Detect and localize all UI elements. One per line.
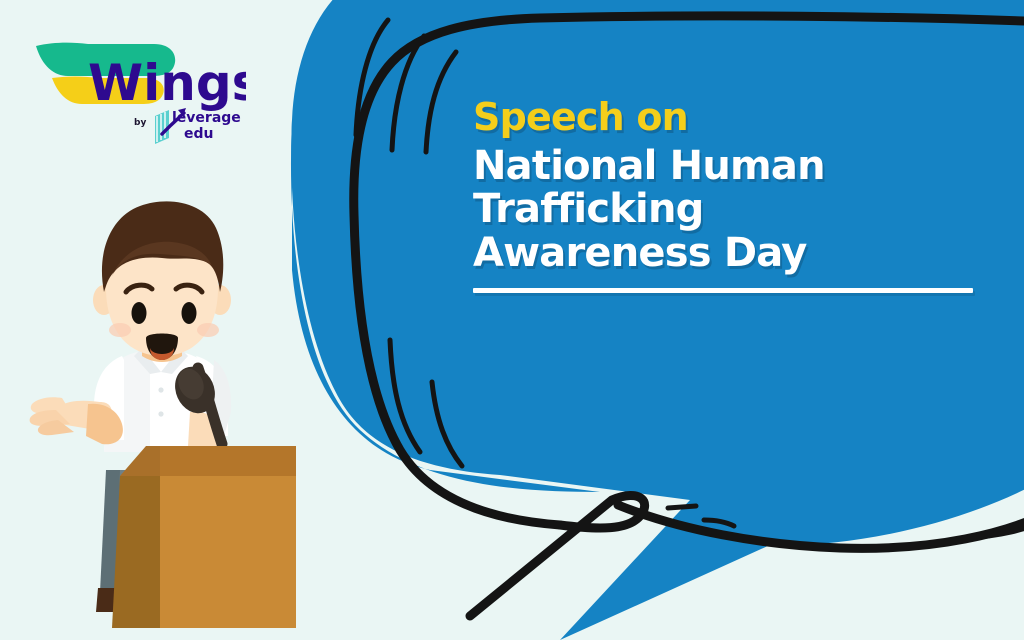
eye-left [132,302,147,324]
cheek-left [109,323,131,337]
logo-subbrand-line1: leverage [172,110,241,126]
wings-logo[interactable]: Wings by leverage edu [26,30,246,145]
cheek-right [197,323,219,337]
title-line-speech-on: Speech on [473,98,993,137]
title-block: Speech on National Human Trafficking Awa… [473,98,993,293]
poster-canvas: Speech on National Human Trafficking Awa… [0,0,1024,640]
eye-right [182,302,197,324]
title-line-trafficking: Trafficking [473,189,993,230]
logo-wordmark: Wings [88,54,246,112]
title-underline-rule [473,288,973,293]
logo-by-label: by [134,118,146,128]
logo-subbrand-line2: edu [184,126,213,142]
title-line-awareness-day: Awareness Day [473,233,993,274]
title-line-national-human: National Human [473,146,993,187]
podium [112,446,296,628]
